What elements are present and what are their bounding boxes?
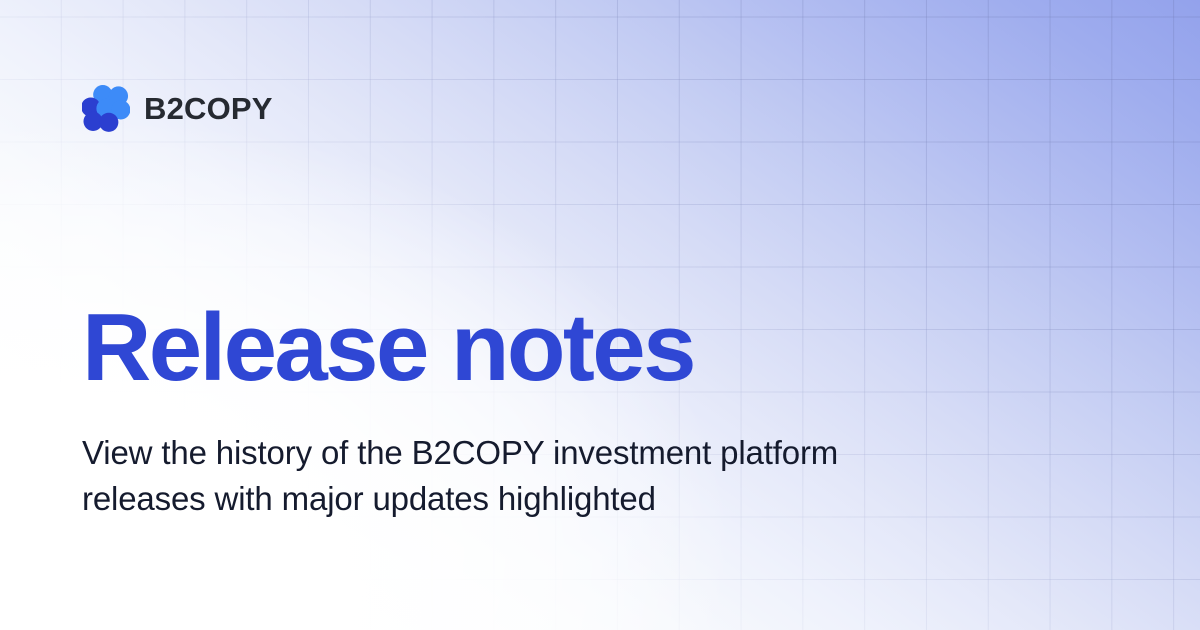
release-notes-banner: B2COPY Release notes View the history of… xyxy=(0,0,1200,630)
banner-content: B2COPY Release notes View the history of… xyxy=(0,0,1200,630)
page-title: Release notes xyxy=(82,300,694,396)
page-subtitle: View the history of the B2COPY investmen… xyxy=(82,430,842,522)
brand-logo[interactable]: B2COPY xyxy=(82,84,273,132)
b2copy-six-dot-logo-icon xyxy=(82,84,130,132)
brand-wordmark: B2COPY xyxy=(144,93,273,124)
